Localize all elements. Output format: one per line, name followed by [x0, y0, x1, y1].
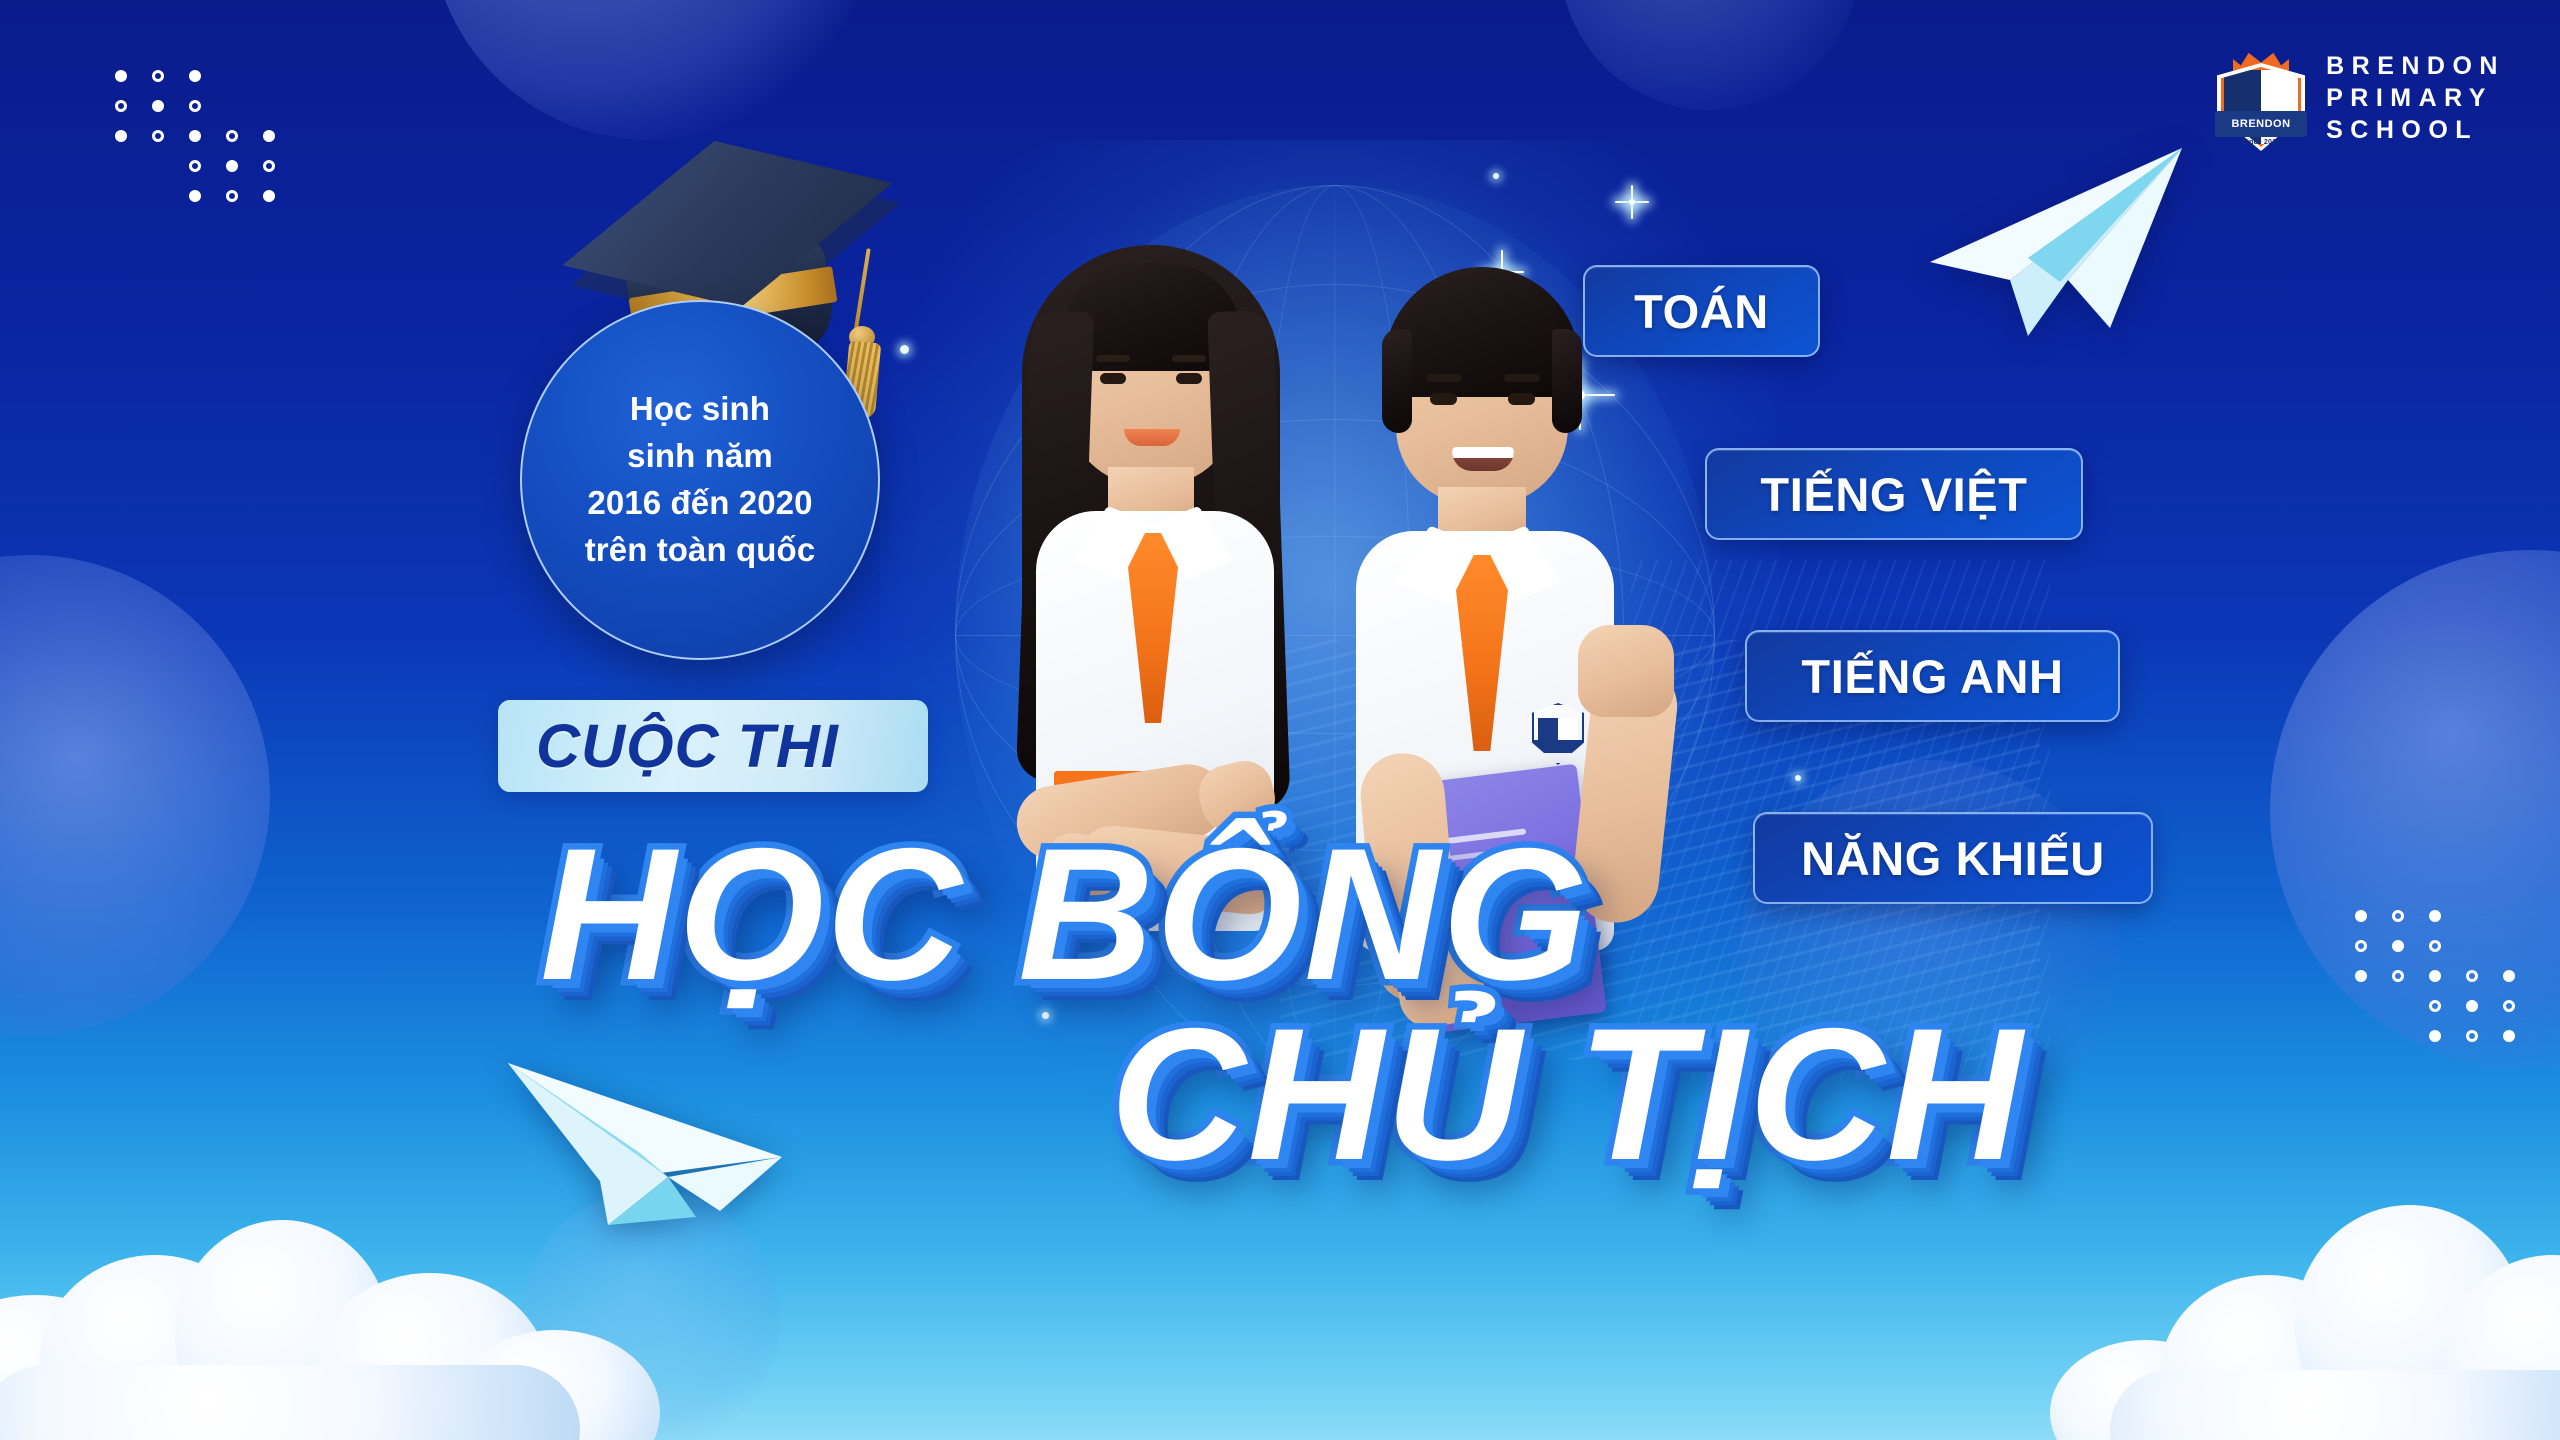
raised-fist-icon — [1578, 625, 1674, 717]
badge-line-3: 2016 đến 2020 — [585, 480, 816, 527]
dot-grid-bottom-right — [2355, 910, 2515, 1050]
subject-pill-label: NĂNG KHIẾU — [1801, 831, 2105, 886]
eligibility-badge: Học sinh sinh năm 2016 đến 2020 trên toà… — [520, 300, 880, 660]
subject-pill-toan[interactable]: TOÁN — [1583, 265, 1820, 357]
badge-line-4: trên toàn quốc — [585, 527, 816, 574]
cloud-right — [2050, 1215, 2560, 1440]
crest-since: Since 2011 — [2242, 139, 2280, 146]
background-circle-left — [0, 555, 270, 1035]
students-photo — [930, 215, 1760, 1215]
subject-pill-tieng-anh[interactable]: TIẾNG ANH — [1745, 630, 2120, 722]
dot-grid-top-left — [115, 70, 275, 210]
eyebrow-label: CUỘC THI — [536, 711, 839, 781]
badge-line-1: Học sinh — [585, 386, 816, 433]
background-circle-lower-left — [520, 1190, 780, 1440]
scholarship-banner: Học sinh sinh năm 2016 đến 2020 trên toà… — [0, 0, 2560, 1440]
crest-name: BRENDON — [2231, 118, 2290, 130]
paper-plane-icon-top — [1900, 130, 2190, 340]
subject-pill-label: TIẾNG ANH — [1801, 649, 2063, 704]
subject-pill-label: TOÁN — [1634, 284, 1769, 339]
background-circle-top — [430, 0, 870, 140]
school-name-line-2: PRIMARY — [2326, 86, 2505, 111]
subject-pill-tieng-viet[interactable]: TIẾNG VIỆT — [1705, 448, 2083, 540]
school-crest-icon: BRENDON Since 2011 — [2215, 45, 2304, 151]
school-logo: BRENDON Since 2011 BRENDON PRIMARY SCHOO… — [2215, 42, 2505, 154]
subject-pill-label: TIẾNG VIỆT — [1760, 467, 2027, 522]
sparkle-dot-icon — [1795, 775, 1801, 781]
school-name: BRENDON PRIMARY SCHOOL — [2326, 54, 2505, 143]
background-circle-top-right — [1560, 0, 1860, 110]
eyebrow-ribbon: CUỘC THI — [498, 700, 928, 792]
student-boy — [1260, 233, 1720, 1223]
cloud-left — [0, 1225, 680, 1440]
paper-plane-icon-bottom — [490, 1035, 790, 1235]
eligibility-badge-text: Học sinh sinh năm 2016 đến 2020 trên toà… — [567, 386, 834, 573]
background-circle-right — [2270, 550, 2560, 1070]
school-name-line-3: SCHOOL — [2326, 118, 2505, 143]
sparkle-dot-icon — [1493, 173, 1499, 179]
subject-pill-nang-khieu[interactable]: NĂNG KHIẾU — [1753, 812, 2153, 904]
school-name-line-1: BRENDON — [2326, 54, 2505, 79]
sparkle-icon — [1615, 185, 1649, 219]
badge-line-2: sinh năm — [585, 433, 816, 480]
